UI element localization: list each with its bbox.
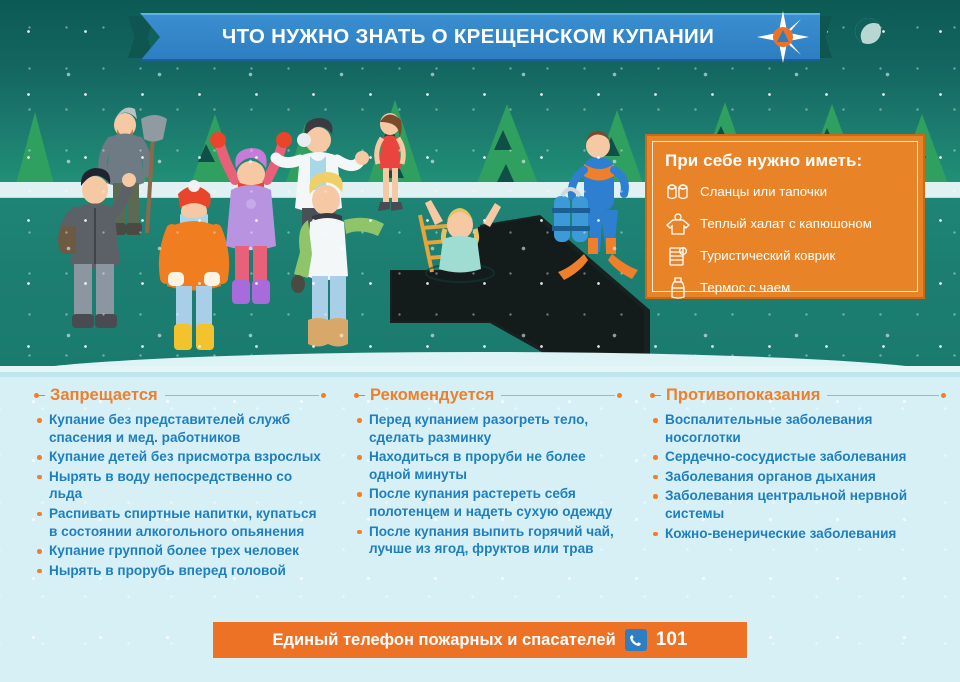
list-item: Распивать спиртные напитки, купаться в с… — [34, 505, 326, 540]
column-prohibited: Запрещается Купание без представителей с… — [0, 386, 340, 581]
column-title: Запрещается — [45, 386, 165, 405]
footer-text: Единый телефон пожарных и спасателей — [273, 631, 616, 650]
title-banner: ЧТО НУЖНО ЗНАТЬ О КРЕЩЕНСКОМ КУПАНИИ — [140, 13, 820, 61]
person-green-coat — [282, 172, 392, 372]
bring-item-label: Туристический коврик — [700, 248, 835, 263]
list-item: Заболевания органов дыхания — [650, 468, 946, 486]
bring-item-label: Сланцы или тапочки — [700, 184, 827, 199]
phone-handset-icon — [625, 629, 647, 651]
panel-divider — [0, 372, 960, 377]
column-title: Противопоказания — [661, 386, 827, 405]
list-item: Купание без представителей служб спасени… — [34, 411, 326, 446]
column-contraindications: Противопоказания Воспалительные заболева… — [636, 386, 960, 581]
recommended-list: Перед купанием разогреть тело, сделать р… — [354, 411, 622, 558]
bather-woman-in-ice-hole — [405, 195, 515, 285]
crescent-moon-icon — [852, 15, 885, 48]
bring-with-you-box: При себе нужно иметь: Сланцы или тапочки — [645, 134, 925, 299]
bring-item-label: Термос с чаем — [700, 280, 790, 295]
contraindications-list: Воспалительные заболевания носоглотки Се… — [650, 411, 946, 542]
infographic-poster: ЧТО НУЖНО ЗНАТЬ О КРЕЩЕНСКОМ КУПАНИИ При… — [0, 0, 960, 682]
slippers-icon — [665, 180, 691, 204]
list-item: Перед купанием разогреть тело, сделать р… — [354, 411, 622, 446]
camping-mat-icon — [665, 244, 691, 268]
columns-container: Запрещается Купание без представителей с… — [0, 386, 960, 581]
prohibited-list: Купание без представителей служб спасени… — [34, 411, 326, 579]
header-rule — [165, 395, 319, 396]
person-grey-jacket — [50, 168, 140, 348]
emercom-star-logo — [757, 11, 809, 63]
column-header: Запрещается — [34, 386, 326, 405]
header-dot-icon — [321, 393, 326, 398]
list-item: Нырять в прорубь вперед головой — [34, 562, 326, 580]
list-item: Сердечно-сосудистые заболевания — [650, 448, 946, 466]
list-item: Заболевания центральной нервной системы — [650, 487, 946, 522]
column-title: Рекомендуется — [365, 386, 501, 405]
rescue-diver — [540, 128, 650, 288]
column-header: Противопоказания — [650, 386, 946, 405]
list-item: Купание детей без присмотра взрослых — [34, 448, 326, 466]
emergency-number: 101 — [656, 629, 688, 651]
bring-item: Туристический коврик — [665, 242, 905, 269]
list-item: Воспалительные заболевания носоглотки — [650, 411, 946, 446]
emergency-phone-footer: Единый телефон пожарных и спасателей 101 — [213, 622, 747, 658]
list-item: Находиться в проруби не более одной мину… — [354, 448, 622, 483]
thermos-icon — [665, 276, 691, 300]
bring-item: Термос с чаем — [665, 274, 905, 301]
bring-box-title: При себе нужно иметь: — [665, 151, 905, 171]
column-recommended: Рекомендуется Перед купанием разогреть т… — [340, 386, 636, 581]
bring-item: Теплый халат с капюшоном — [665, 210, 905, 237]
list-item: После купания растереть себя полотенцем … — [354, 485, 622, 520]
page-title: ЧТО НУЖНО ЗНАТЬ О КРЕЩЕНСКОМ КУПАНИИ — [200, 25, 760, 49]
list-item: Кожно-венерические заболевания — [650, 525, 946, 543]
header-rule — [827, 395, 939, 396]
list-item: После купания выпить горячий чай, лучше … — [354, 523, 622, 558]
header-rule — [501, 395, 615, 396]
list-item: Нырять в воду непосредственно со льда — [34, 468, 326, 503]
bring-item: Сланцы или тапочки — [665, 178, 905, 205]
header-dot-icon — [941, 393, 946, 398]
bring-item-label: Теплый халат с капюшоном — [700, 216, 872, 231]
column-header: Рекомендуется — [354, 386, 622, 405]
hooded-robe-icon — [665, 212, 691, 236]
list-item: Купание группой более трех человек — [34, 542, 326, 560]
header-dot-icon — [617, 393, 622, 398]
